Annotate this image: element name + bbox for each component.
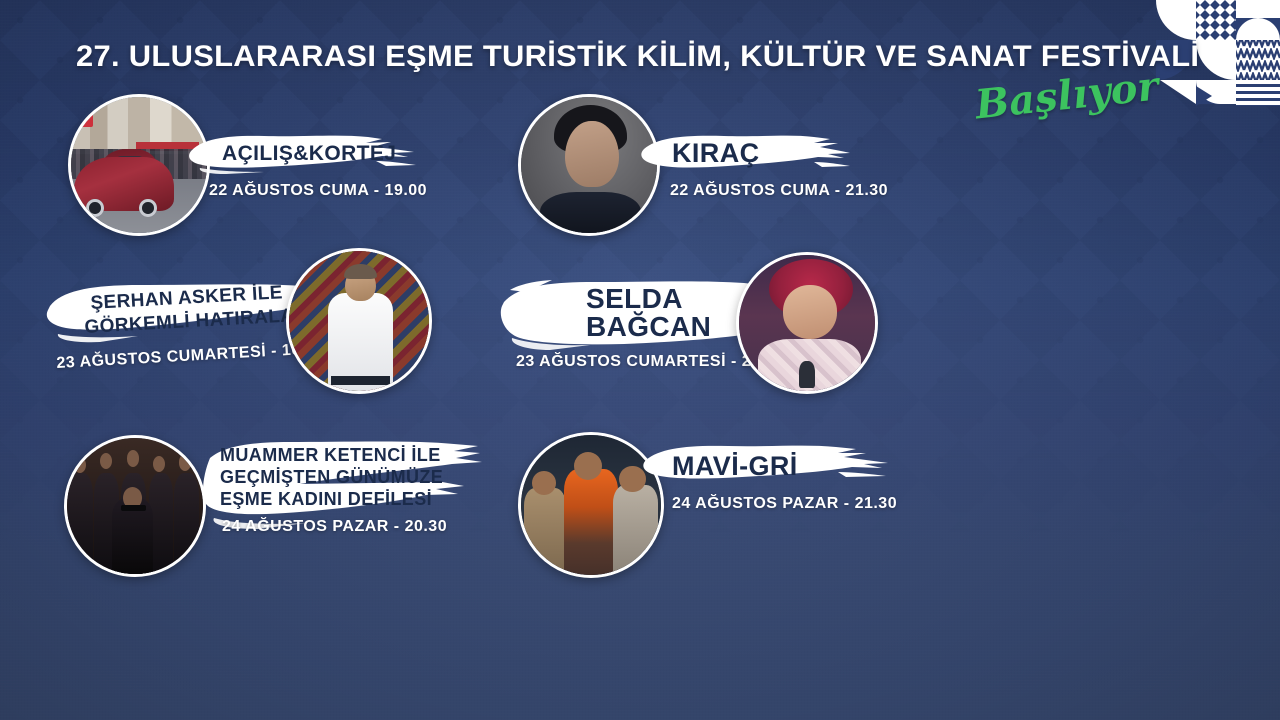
event-name-selda-bagcan-line2: BAĞCAN bbox=[586, 312, 711, 341]
event-date-acilis-kortej: 22 AĞUSTOS CUMA - 19.00 bbox=[209, 182, 427, 200]
event-name-mavi-gri: MAVİ-GRİ bbox=[672, 452, 798, 480]
event-name-selda-bagcan-line1: SELDA bbox=[586, 284, 683, 313]
serhan-asker-kilim-photo bbox=[286, 248, 432, 394]
selda-bagcan-portrait-photo bbox=[736, 252, 878, 394]
event-name-muammer-ketenci-line3: EŞME KADINI DEFİLESİ bbox=[220, 490, 432, 509]
esme-kadini-defilesi-photo bbox=[64, 435, 206, 577]
event-name-acilis-kortej: AÇILIŞ&KORTEJ bbox=[222, 143, 396, 165]
event-date-mavi-gri: 24 AĞUSTOS PAZAR - 21.30 bbox=[672, 495, 897, 513]
poster-title: 27. ULUSLARARASI EŞME TURİSTİK KİLİM, KÜ… bbox=[76, 40, 1106, 74]
event-name-muammer-ketenci-line2: GEÇMİŞTEN GÜNÜMÜZE bbox=[220, 468, 443, 487]
event-date-muammer-ketenci: 24 AĞUSTOS PAZAR - 20.30 bbox=[222, 518, 447, 536]
festival-poster: 27. ULUSLARARASI EŞME TURİSTİK KİLİM, KÜ… bbox=[0, 0, 1280, 720]
event-name-kirac: KIRAÇ bbox=[672, 139, 760, 167]
event-date-kirac: 22 AĞUSTOS CUMA - 21.30 bbox=[670, 182, 888, 200]
event-name-muammer-ketenci-line1: MUAMMER KETENCİ İLE bbox=[220, 446, 441, 465]
